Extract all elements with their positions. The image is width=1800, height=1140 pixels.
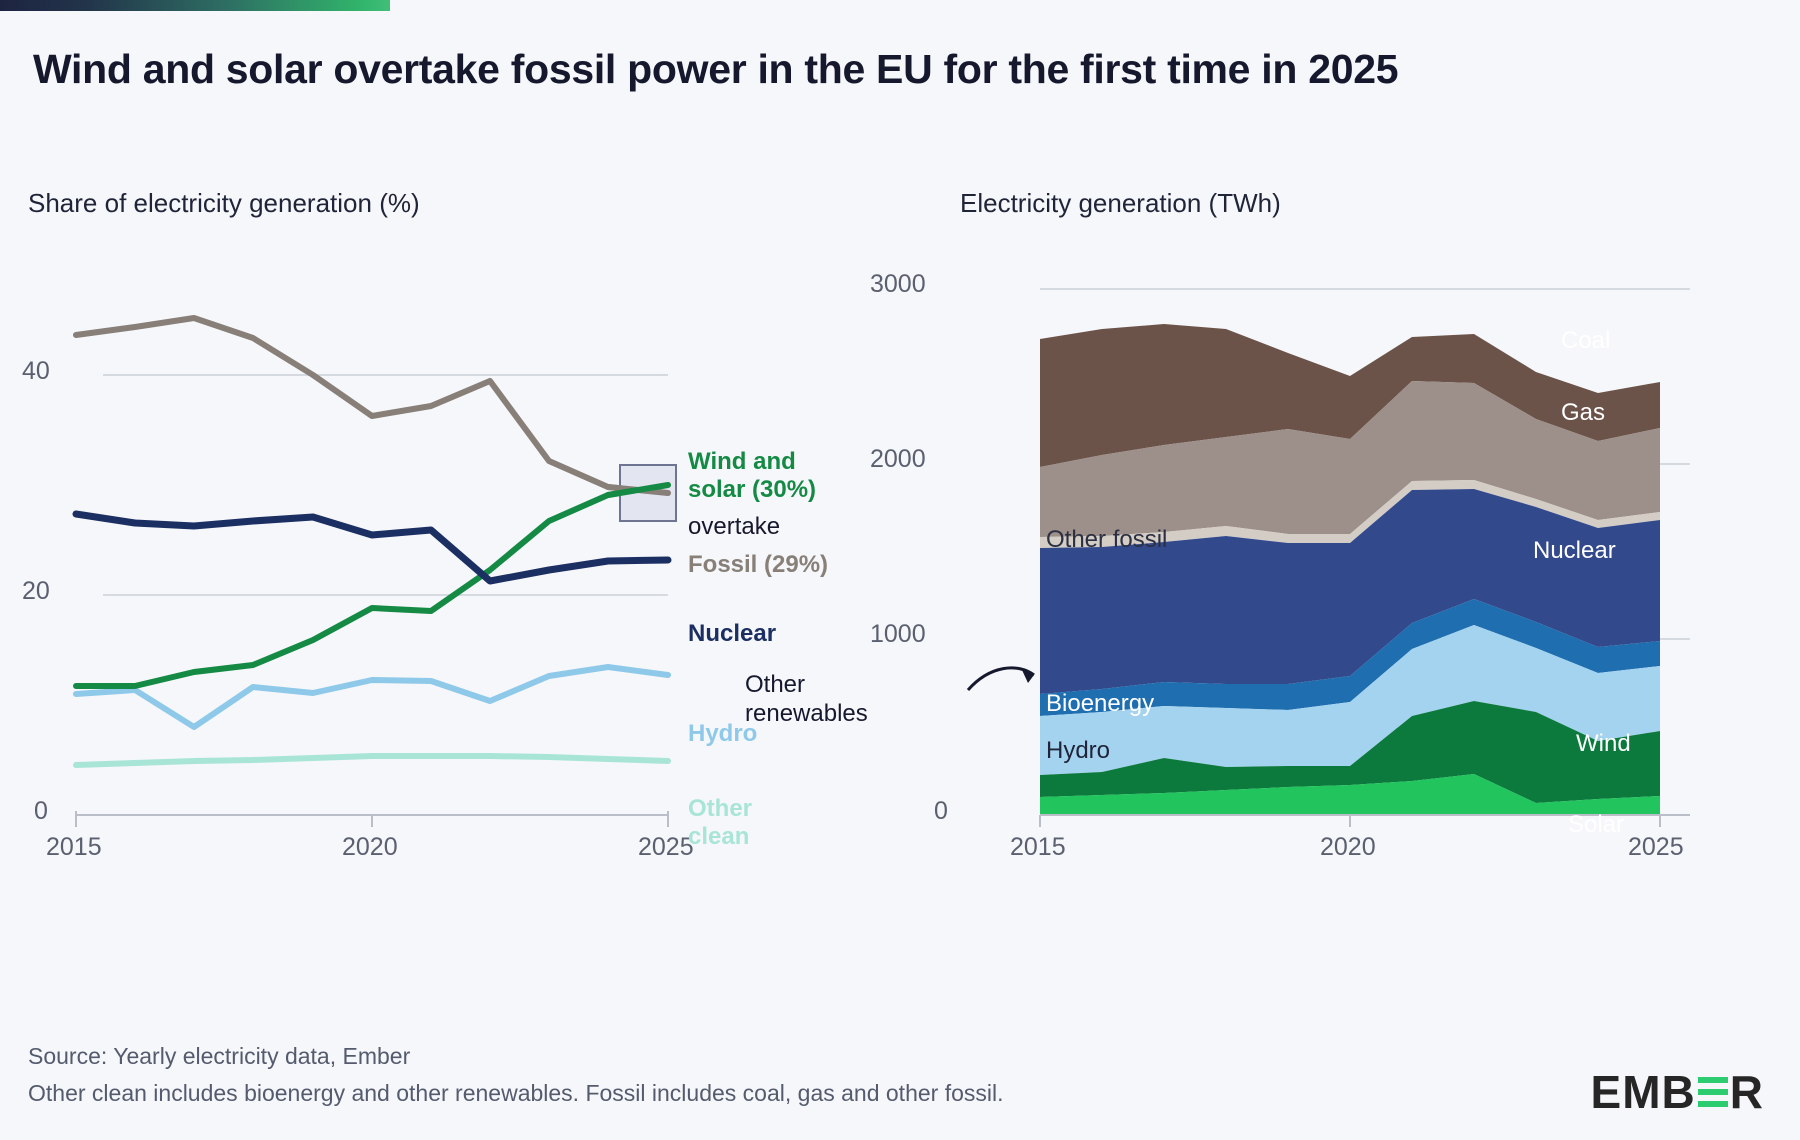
y-tick-20: 20	[22, 577, 50, 606]
series-line-other-clean	[76, 756, 668, 765]
y-tick-3000: 3000	[870, 270, 926, 299]
accent-gradient-bar	[0, 0, 390, 11]
x-tick-label-2015: 2015	[1010, 833, 1066, 862]
callout-other-renewables: Other renewables	[745, 670, 868, 729]
legend-nuclear: Nuclear	[688, 620, 776, 648]
left-chart-title: Share of electricity generation (%)	[28, 188, 420, 219]
series-line-fossil	[76, 318, 668, 493]
y-tick-2000: 2000	[870, 445, 926, 474]
legend-overtake: overtake	[688, 513, 780, 542]
right-chart-svg	[960, 265, 1770, 885]
callout-other-renewables-line2: renewables	[745, 700, 868, 727]
area-label-bioenergy: Bioenergy	[1046, 690, 1154, 718]
x-tick-label-2025: 2025	[638, 833, 694, 862]
legend-other-clean: Other clean	[688, 795, 752, 850]
ember-logo-e-glyph	[1698, 1074, 1728, 1110]
legend-other-clean-line2: clean	[688, 823, 749, 850]
area-label-nuclear: Nuclear	[1533, 537, 1616, 565]
page-title: Wind and solar overtake fossil power in …	[33, 42, 1693, 97]
share-of-generation-line-chart: 40 20 0 2015 2020 2025 Wind and solar (3…	[28, 265, 908, 885]
x-tick-label-2020: 2020	[1320, 833, 1376, 862]
y-tick-0: 0	[934, 797, 948, 826]
area-label-solar: Solar	[1568, 811, 1624, 839]
legend-wind-and-solar: Wind and solar (30%)	[688, 448, 816, 503]
footer-source-block: Source: Yearly electricity data, Ember O…	[28, 1038, 1004, 1113]
ember-logo-text: EMB	[1591, 1065, 1696, 1119]
y-tick-1000: 1000	[870, 620, 926, 649]
x-tick-label-2025: 2025	[1628, 833, 1684, 862]
x-tick-label-2015: 2015	[46, 833, 102, 862]
right-chart-title: Electricity generation (TWh)	[960, 188, 1281, 219]
legend-wind-and-solar-line1: Wind and	[688, 448, 796, 475]
area-label-hydro: Hydro	[1046, 737, 1110, 765]
y-tick-0: 0	[34, 797, 48, 826]
legend-other-clean-line1: Other	[688, 795, 752, 822]
area-label-gas: Gas	[1561, 399, 1605, 427]
note-line: Other clean includes bioenergy and other…	[28, 1075, 1004, 1112]
series-line-nuclear	[76, 514, 668, 581]
source-line: Source: Yearly electricity data, Ember	[28, 1038, 1004, 1075]
legend-wind-and-solar-line2: solar (30%)	[688, 476, 816, 503]
legend-fossil: Fossil (29%)	[688, 551, 828, 579]
y-tick-40: 40	[22, 357, 50, 386]
area-label-other-fossil: Other fossil	[1046, 526, 1167, 554]
ember-logo: EMBR	[1591, 1065, 1764, 1119]
series-line-wind-and-solar	[76, 485, 668, 686]
callout-other-renewables-line1: Other	[745, 671, 805, 698]
x-tick-label-2020: 2020	[342, 833, 398, 862]
ember-logo-text-r: R	[1730, 1065, 1764, 1119]
area-label-wind: Wind	[1576, 730, 1631, 758]
electricity-generation-area-chart: 3000 2000 1000 0 2015 2020 2025 Coal Gas…	[960, 265, 1770, 885]
area-label-coal: Coal	[1561, 327, 1610, 355]
